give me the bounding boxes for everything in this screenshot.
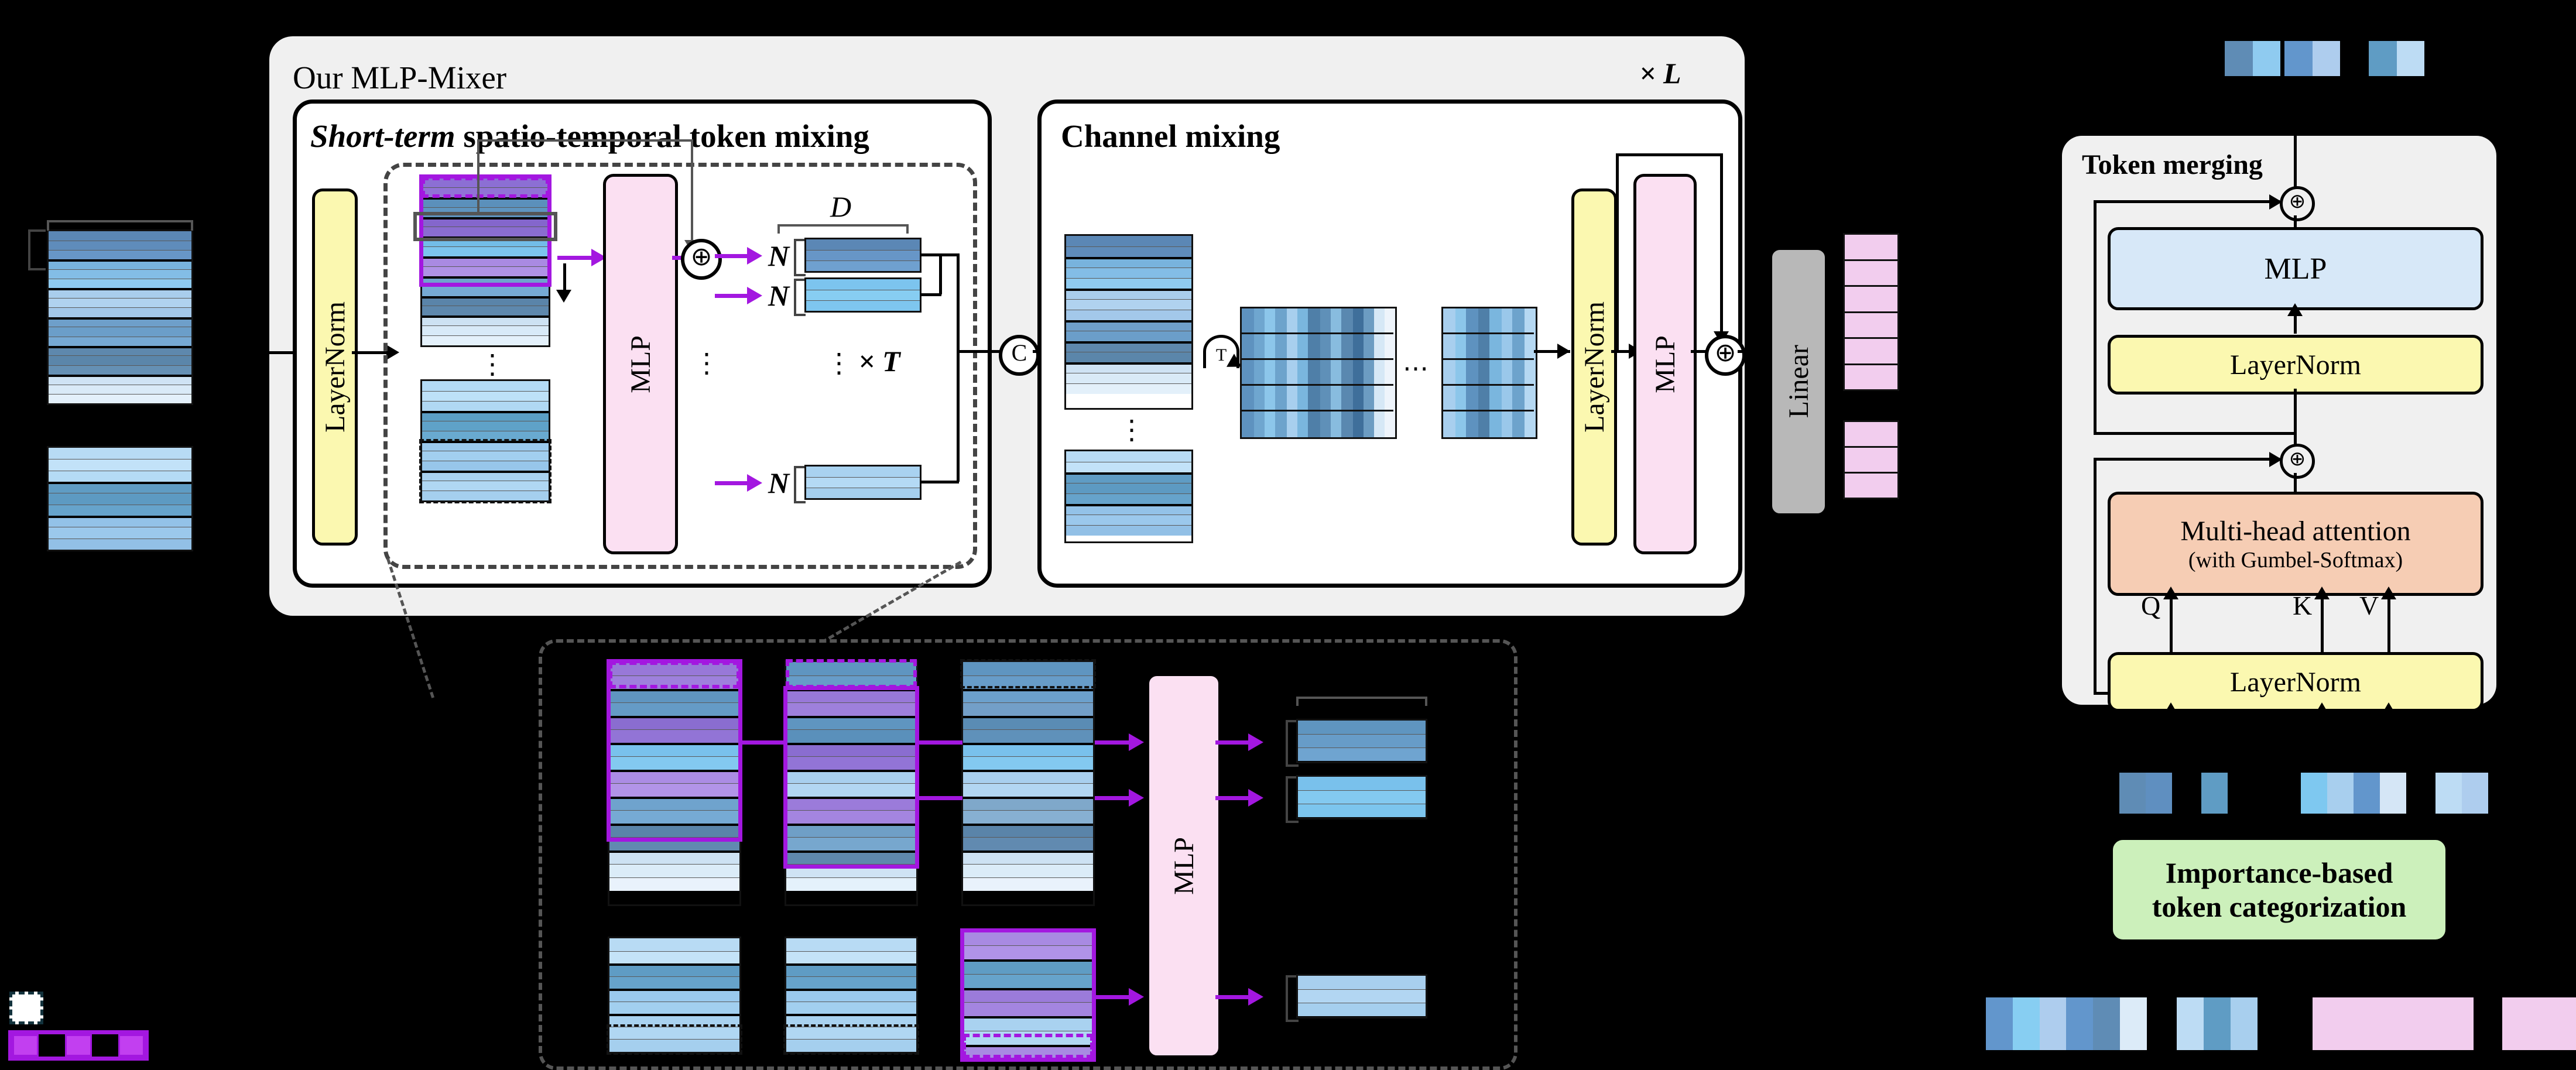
channel-layernorm-label: LayerNorm: [1578, 301, 1611, 433]
tm-skip-top-v: [2094, 200, 2097, 434]
tm-attn-to-plus: [2294, 473, 2297, 492]
tm-in-line-3: [2387, 706, 2390, 770]
categorization-line2: token categorization: [2152, 890, 2407, 924]
channel-add-circle[interactable]: ⊕: [1705, 335, 1746, 376]
tm-top-line-2: [2294, 170, 2297, 187]
repeat-t-label: × T: [858, 347, 900, 376]
short-term-mlp: MLP: [603, 174, 678, 554]
bottom-tokens-pink-1: [2313, 997, 2474, 1050]
short-term-layernorm: LayerNorm: [312, 188, 358, 546]
collector-v1: [939, 253, 942, 294]
stack-top-tap-line: [477, 139, 479, 212]
tm-in-arrow-3: [2381, 702, 2396, 715]
detail-out-line-3: [1215, 995, 1253, 999]
channel-skip-h: [1616, 153, 1722, 156]
tm-skip-bot-arrow: [2269, 452, 2282, 467]
detail-col-3: [961, 660, 1095, 906]
detail-r1-to-mlp-arrow-2: [1129, 789, 1144, 807]
bottom-tokens-pink-2: [2502, 997, 2576, 1050]
tm-input-tokens-group-c: [2369, 41, 2424, 76]
linear-block: Linear: [1769, 247, 1828, 516]
short-term-stack-vdots: ⋮: [479, 351, 506, 378]
detail-mlp: MLP: [1146, 673, 1221, 1058]
transpose-symbol: T: [1216, 347, 1227, 364]
detail-out-arrow-2: [1248, 789, 1263, 807]
detail-out-bracket-top-r: [1425, 697, 1427, 706]
n2-arrow: [747, 287, 762, 304]
channel-layernorm: LayerNorm: [1571, 188, 1617, 546]
short-term-left-vdots: ⋮: [693, 350, 720, 377]
short-term-add-circle[interactable]: ⊕: [681, 239, 722, 280]
matrix-to-ln-arrow: [1557, 344, 1570, 359]
detail-r1-link-b: [918, 740, 962, 745]
d-label: D: [830, 192, 851, 221]
input-bracket-top-right: [191, 220, 193, 231]
detail-col-2-highlight: [783, 686, 919, 869]
tm-add-top[interactable]: ⊕: [2280, 186, 2315, 221]
detail-out-bracket-top: [1296, 697, 1427, 699]
channel-matrix-1-rows: [1240, 307, 1393, 435]
channel-matrix-ellipsis: ⋯: [1403, 356, 1429, 382]
tm-attention-sublabel: (with Gumbel-Softmax): [2188, 547, 2403, 573]
channel-skip-up: [1616, 153, 1619, 352]
channel-skip-down: [1720, 153, 1723, 334]
n-bracket-1: [794, 239, 806, 276]
detail-r2-to-mlp-arrow: [1129, 988, 1144, 1006]
detail-r2-to-mlp: [1095, 995, 1132, 999]
channel-matrix-2-rows: [1441, 307, 1534, 435]
tm-input-tokens-group-a: [2225, 41, 2280, 76]
mlp-mixer-title: Our MLP-Mixer: [293, 61, 506, 94]
legend-white-square: [9, 992, 43, 1024]
tm-ln-to-mlp-arrow: [2287, 303, 2303, 316]
d-bracket-r: [906, 224, 909, 234]
selector-to-mlp-line: [557, 256, 594, 260]
tm-bottom-tokens-a: [2119, 773, 2172, 814]
short-term-token-stack-wrap: ⋮: [420, 176, 596, 503]
input-token-stack-top: [47, 229, 193, 405]
tm-q-label: Q: [2141, 590, 2160, 621]
tm-k-arrow: [2314, 587, 2330, 599]
tm-bottom-tokens-c: [2301, 773, 2406, 814]
stack-top-tap-down: [691, 139, 693, 242]
output-bar-1: [804, 238, 922, 273]
detail-col-4: [608, 937, 741, 1054]
legend-purple-strip: [8, 1030, 149, 1061]
n-bracket-2: [794, 279, 806, 316]
detail-r1-to-mlp-2: [1095, 796, 1132, 800]
detail-col-6-highlight-dash: [962, 1034, 1094, 1058]
concat-circle[interactable]: C: [999, 335, 1040, 376]
tm-skip-top-h: [2094, 200, 2280, 203]
short-term-highlight-dashed: [422, 177, 549, 198]
channel-stack-vdots: ⋮: [1118, 417, 1145, 444]
stack-top-tap-h: [477, 139, 693, 142]
categorization-box: Importance-based token categorization: [2110, 837, 2448, 942]
detail-out-arrow-3: [1248, 988, 1263, 1006]
detail-col-1-highlight-dash: [609, 661, 740, 688]
n3-arrow: [747, 474, 762, 492]
tm-v-arrow: [2381, 587, 2396, 599]
tm-layernorm-top: LayerNorm: [2108, 335, 2483, 395]
short-term-mlp-label: MLP: [625, 335, 657, 393]
short-term-dashed-tail: [419, 439, 551, 503]
short-term-row-selector: [413, 212, 557, 241]
short-term-title: Short-term spatio-temporal token mixing: [310, 120, 869, 152]
short-term-layernorm-label: LayerNorm: [319, 301, 351, 433]
tm-add-bottom-symbol: ⊕: [2289, 450, 2306, 469]
token-merging-panel: [2062, 136, 2496, 705]
detail-out-arrow-1: [1248, 733, 1263, 751]
tm-bottom-tokens-d: [2435, 773, 2488, 814]
output-bar-3: [804, 465, 922, 500]
detail-col-1: [608, 660, 741, 906]
channel-add-symbol: ⊕: [1715, 340, 1736, 366]
detail-out-line-2: [1215, 796, 1253, 800]
tm-in-arrow-2: [2314, 702, 2330, 715]
tm-attention-label: Multi-head attention: [2180, 515, 2410, 547]
channel-mixing-title: Channel mixing: [1061, 120, 1280, 152]
linear-label: Linear: [1783, 345, 1815, 418]
short-term-down-line: [563, 263, 566, 291]
collector-h3: [920, 481, 959, 483]
token-merging-title: Token merging: [2082, 151, 2263, 179]
tm-skip-top-arrow: [2269, 194, 2282, 210]
tm-plus2-to-ln: [2294, 389, 2297, 447]
input-bracket-top: [47, 220, 193, 222]
tm-in-arrow-1: [2163, 702, 2178, 715]
tm-mlp-to-plus: [2294, 215, 2297, 229]
tm-input-tokens-group-b: [2284, 41, 2340, 76]
detail-r1-link-c: [918, 796, 962, 800]
concat-symbol: C: [1012, 341, 1027, 365]
tm-add-bottom[interactable]: ⊕: [2280, 444, 2315, 479]
detail-col-4-dash: [607, 1024, 742, 1055]
short-term-add-symbol: ⊕: [691, 244, 712, 270]
detail-out-bar-3: [1296, 974, 1427, 1018]
plus-to-n1-line: [715, 254, 750, 258]
collector-h2: [920, 293, 941, 296]
tm-skip-bot-h: [2094, 458, 2280, 461]
bottom-tokens-blue-2: [2177, 997, 2258, 1050]
n3-line: [715, 481, 750, 485]
detail-r1-link-a: [741, 740, 786, 745]
output-tokens-top: [1843, 233, 1899, 391]
detail-col-2-highlight-dash: [786, 659, 917, 688]
detail-r1-to-mlp-1: [1095, 740, 1132, 745]
tm-mlp: MLP: [2108, 227, 2483, 310]
mlp-out-line-ch: [1691, 350, 1706, 353]
detail-col-5-dash: [783, 1024, 919, 1055]
plus-to-n1-arrow: [747, 247, 762, 265]
output-tokens-bottom: [1843, 420, 1899, 499]
detail-col-3-stack: [961, 660, 1095, 906]
collector-v2: [957, 253, 960, 482]
detail-col-2: [785, 660, 918, 906]
repeat-l-label: × L: [1639, 59, 1681, 88]
n2-line: [715, 294, 750, 298]
tm-k-label: K: [2293, 590, 2312, 621]
tm-skip-top-bot: [2094, 432, 2294, 435]
short-term-title-italic: Short-term: [310, 118, 455, 154]
detail-out-line-1: [1215, 740, 1253, 745]
tm-v-label: V: [2359, 590, 2379, 621]
categorization-line1: Importance-based: [2166, 856, 2393, 890]
input-bracket-left: [28, 229, 46, 270]
n-label-2: N: [768, 281, 789, 310]
tm-skip-bot-v: [2094, 458, 2097, 694]
tm-add-top-symbol: ⊕: [2289, 192, 2306, 212]
tm-attention: Multi-head attention (with Gumbel-Softma…: [2108, 492, 2483, 596]
detail-col-6: [961, 930, 1095, 1061]
d-bracket-h: [777, 224, 909, 227]
tm-bottom-tokens-b: [2201, 773, 2228, 814]
d-bracket-l: [777, 224, 780, 234]
detail-out-bracket-top-l: [1296, 697, 1299, 706]
input-token-stack-bottom: [47, 446, 193, 551]
tm-layernorm-top-label: LayerNorm: [2230, 349, 2361, 381]
tm-in-line-1: [2170, 706, 2173, 770]
channel-token-stack-bottom: [1064, 450, 1193, 543]
tm-mlp-label: MLP: [2265, 252, 2327, 286]
detail-col-5: [785, 937, 918, 1054]
channel-token-stack-top: [1064, 234, 1193, 410]
tm-layernorm-bottom-label: LayerNorm: [2230, 666, 2361, 698]
n-label-1: N: [768, 241, 789, 270]
short-term-title-rest: spatio-temporal token mixing: [455, 118, 869, 154]
tm-in-line-2: [2321, 706, 2324, 770]
bottom-tokens-blue-1: [1986, 997, 2147, 1050]
channel-mlp: MLP: [1633, 174, 1697, 554]
detail-out-bar-2: [1296, 775, 1427, 819]
n-bracket-3: [794, 466, 806, 503]
detail-mlp-label: MLP: [1168, 837, 1200, 895]
input-bracket-top-left: [47, 220, 49, 231]
channel-mlp-label: MLP: [1649, 335, 1681, 393]
tm-q-arrow: [2163, 587, 2178, 599]
short-term-right-vdots: ⋮: [825, 350, 852, 377]
tm-top-line: [2294, 76, 2297, 176]
short-term-down-arrow: [556, 290, 571, 303]
detail-col-3-dash: [960, 659, 1096, 688]
output-bar-2: [804, 277, 922, 313]
input-token-group: [41, 205, 217, 568]
detail-r1-to-mlp-arrow-1: [1129, 733, 1144, 751]
n-label-3: N: [768, 468, 789, 498]
detail-out-bar-1: [1296, 719, 1427, 763]
